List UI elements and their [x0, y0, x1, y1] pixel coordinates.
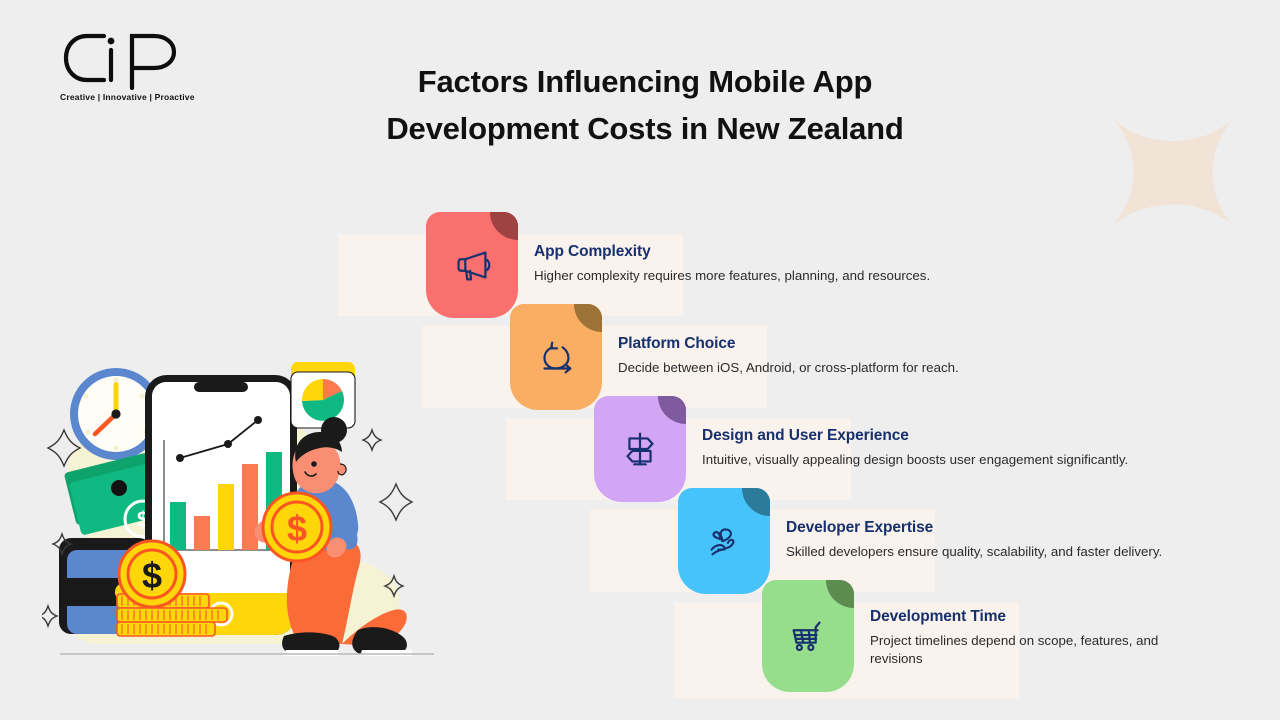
- card-text: Developer Expertise Skilled developers e…: [786, 519, 1280, 561]
- card-description: Skilled developers ensure quality, scala…: [786, 543, 1256, 562]
- card-text: Development Time Project timelines depen…: [870, 608, 1280, 669]
- infographic-canvas: Creative | Innovative | Proactive Factor…: [0, 0, 1280, 720]
- svg-text:$: $: [287, 508, 307, 549]
- card-title: Design and User Experience: [702, 427, 1262, 446]
- card-text: App Complexity Higher complexity require…: [534, 243, 1094, 285]
- card-text: Platform Choice Decide between iOS, Andr…: [618, 335, 1178, 377]
- svg-text:$: $: [142, 555, 162, 596]
- hand-holding-plant-icon: [678, 488, 770, 594]
- card-icon-tile[interactable]: [762, 580, 854, 692]
- card-description: Higher complexity requires more features…: [534, 267, 1004, 286]
- signpost-icon: [594, 396, 686, 502]
- mobile-app-cost-illustration: $: [42, 344, 446, 684]
- card-title: Developer Expertise: [786, 519, 1280, 538]
- refresh-cycle-icon: [510, 304, 602, 410]
- card-icon-tile[interactable]: [594, 396, 686, 502]
- card-description: Intuitive, visually appealing design boo…: [702, 451, 1172, 470]
- card-icon-tile[interactable]: [510, 304, 602, 410]
- card-icon-tile[interactable]: [426, 212, 518, 318]
- card-title: App Complexity: [534, 243, 1094, 262]
- pie-chart-card: [291, 362, 355, 428]
- megaphone-icon: [426, 212, 518, 318]
- card-description: Project timelines depend on scope, featu…: [870, 632, 1210, 670]
- card-title: Development Time: [870, 608, 1280, 627]
- card-text: Design and User Experience Intuitive, vi…: [702, 427, 1262, 469]
- shopping-cart-icon: [762, 580, 854, 692]
- card-icon-tile[interactable]: [678, 488, 770, 594]
- card-description: Decide between iOS, Android, or cross-pl…: [618, 359, 1088, 378]
- card-title: Platform Choice: [618, 335, 1178, 354]
